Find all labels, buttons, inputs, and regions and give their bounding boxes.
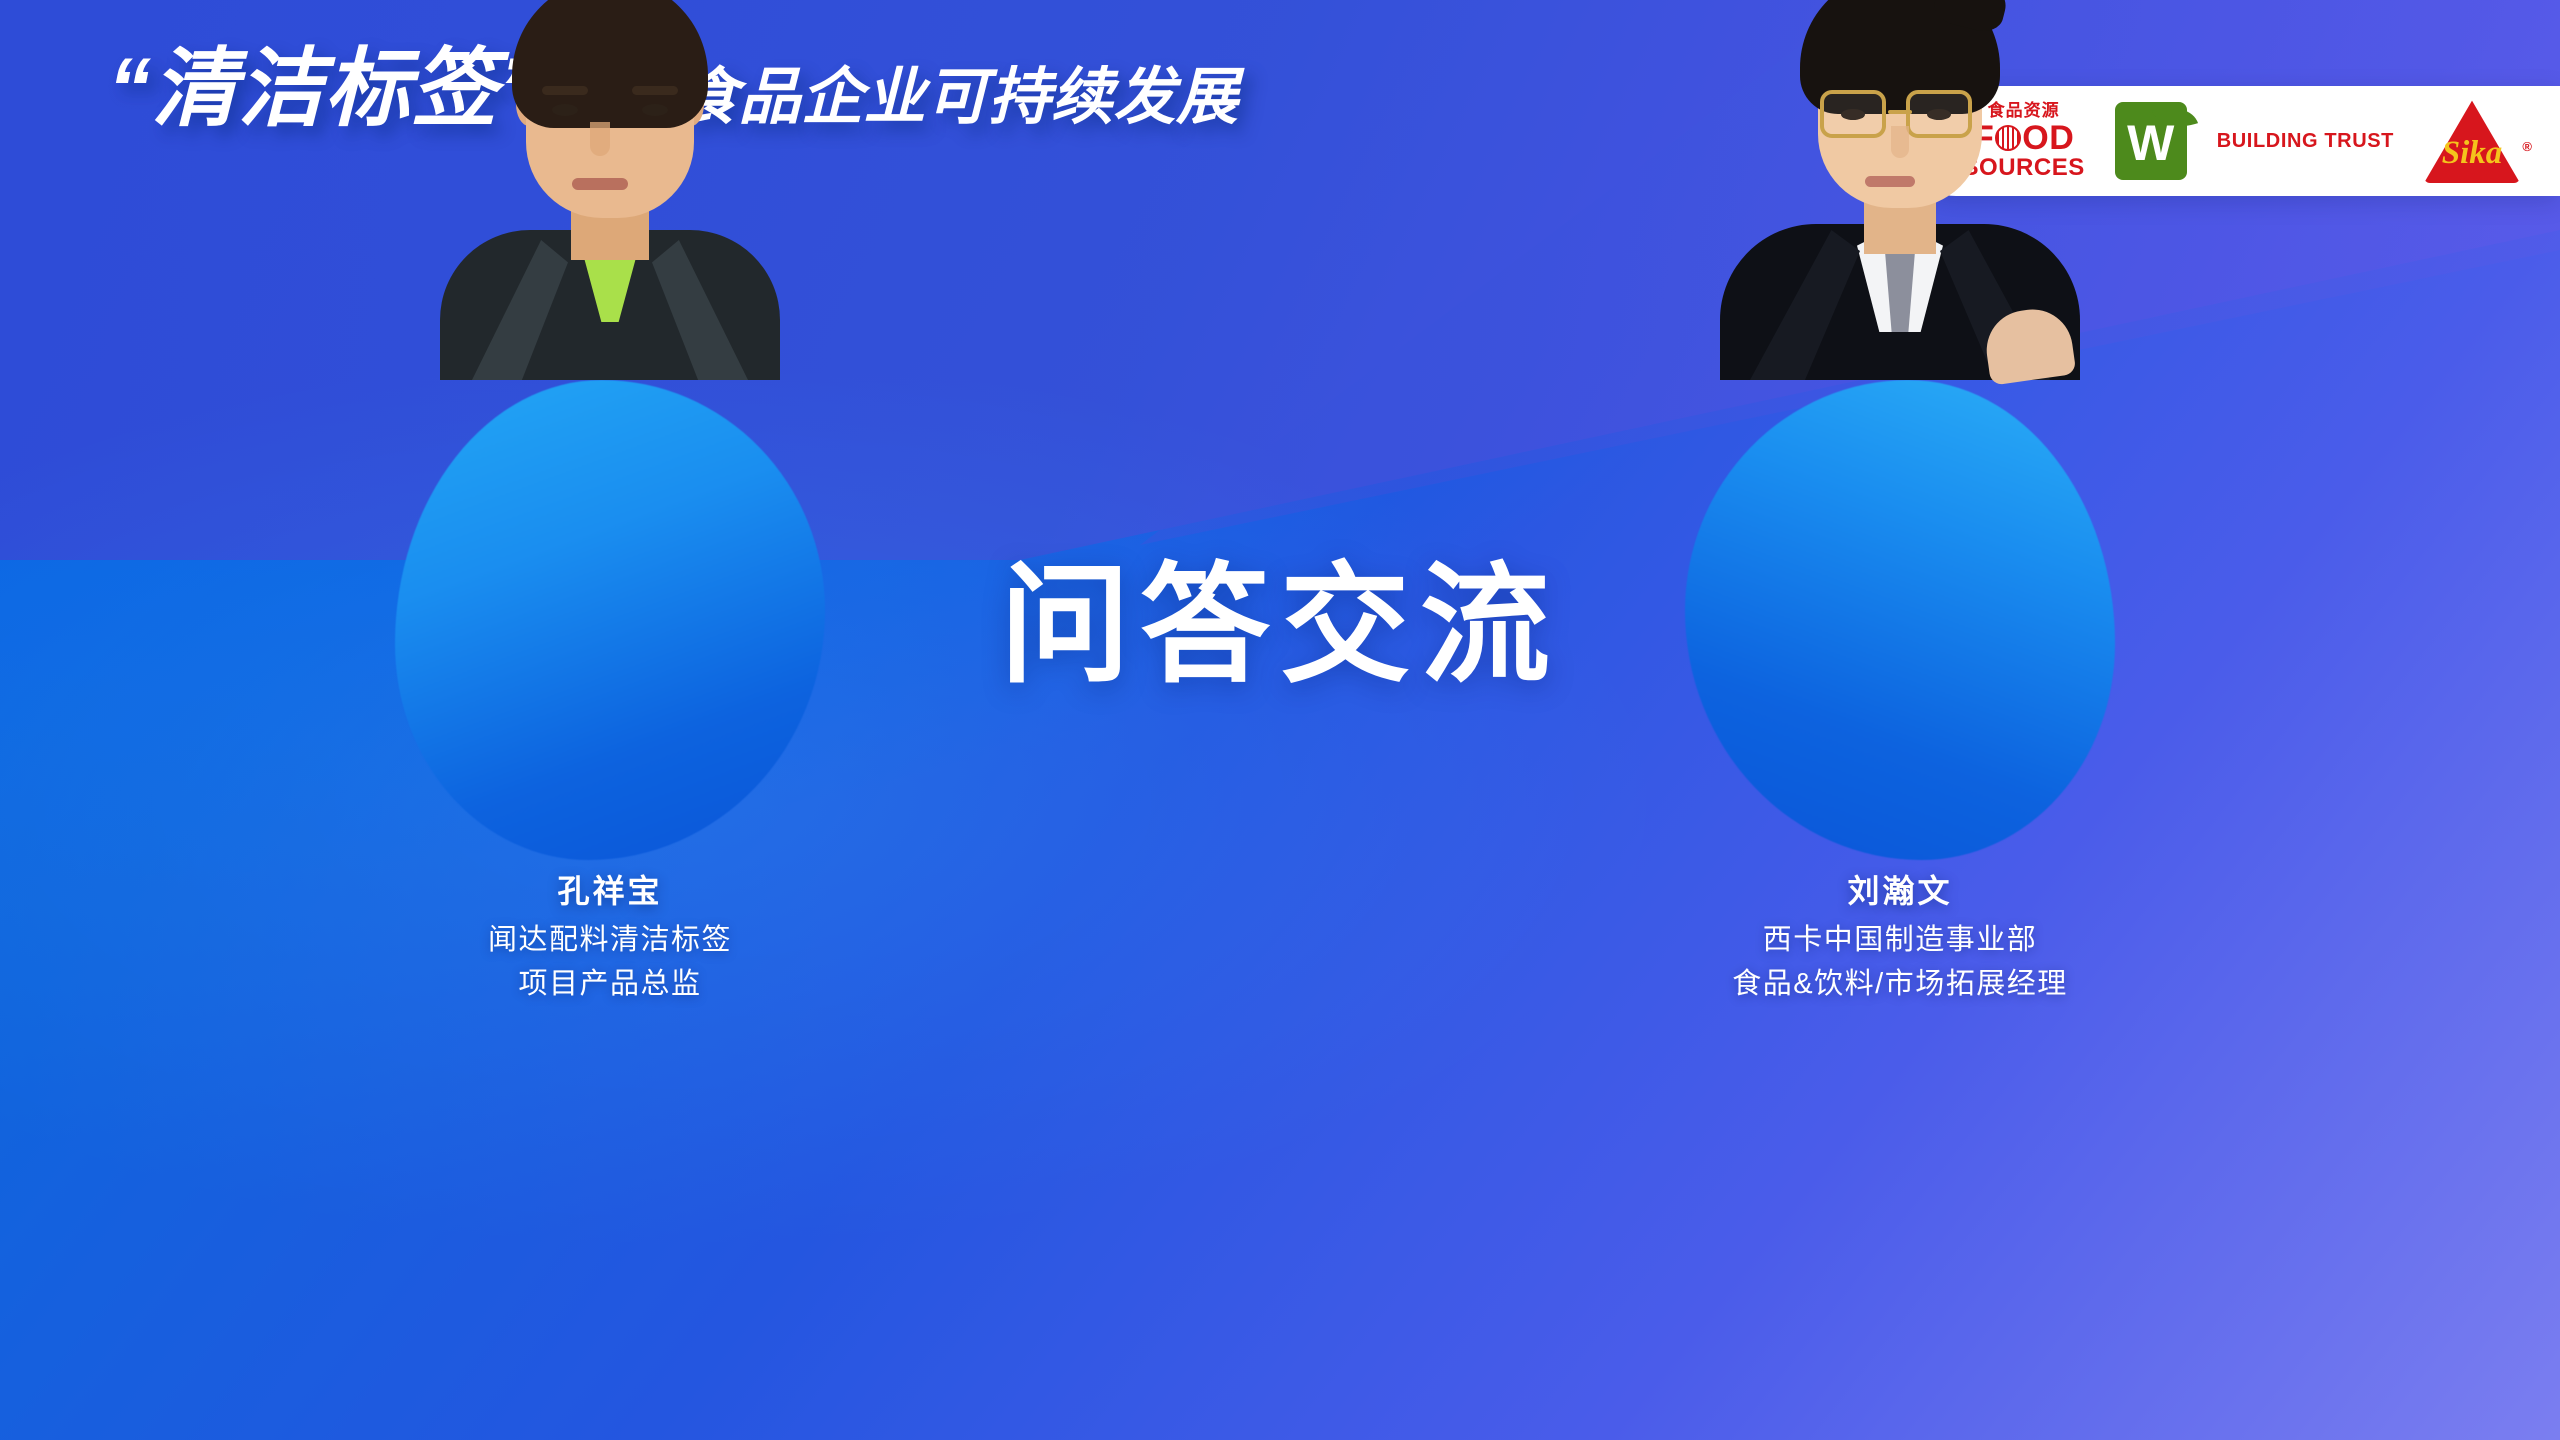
slide-header: “清洁标签”助力食品企业可持续发展 食品资源 F OD SOURCES W BU… [0, 0, 2560, 210]
speaker-role-line1: 闻达配料清洁标签 [330, 920, 890, 961]
portrait-eye-left [552, 104, 578, 116]
portrait-eye-right [642, 104, 668, 116]
portrait-nose [1891, 126, 1909, 158]
portrait-mouth [572, 178, 628, 190]
w-brand-letter: W [2127, 118, 2174, 168]
main-headline: 问答交流 [1000, 560, 1560, 690]
portrait-brow-right [632, 86, 678, 95]
speaker-role-line2: 食品&饮料/市场拓展经理 [1620, 964, 2180, 1005]
speaker-info-right: 刘瀚文 西卡中国制造事业部 食品&饮料/市场拓展经理 [1620, 872, 2180, 1005]
speaker-name: 孔祥宝 [330, 872, 890, 910]
speaker-info-left: 孔祥宝 闻达配料清洁标签 项目产品总监 [330, 872, 890, 1005]
portrait-brow-left [542, 86, 588, 95]
speaker-blob-right [1685, 380, 2115, 860]
portrait-hair [512, 0, 708, 128]
sika-logo: Sika ® [2424, 99, 2520, 183]
speaker-portrait-right [1710, 0, 2090, 380]
registered-icon: ® [2522, 139, 2532, 154]
sika-wordmark: Sika [2424, 135, 2520, 172]
speaker-blob-left [395, 380, 825, 860]
portrait-mouth [1865, 176, 1915, 187]
speaker-name: 刘瀚文 [1620, 872, 2180, 910]
speaker-role-line1: 西卡中国制造事业部 [1620, 920, 2180, 961]
glasses-icon-right [1906, 90, 1972, 138]
w-brand-logo: W [2115, 102, 2187, 180]
portrait-nose [590, 122, 610, 156]
glasses-icon-left [1820, 90, 1886, 138]
building-trust-tagline: BUILDING TRUST [2217, 130, 2394, 153]
speaker-role-line2: 项目产品总监 [330, 964, 890, 1005]
glasses-bridge [1888, 110, 1912, 114]
speaker-portrait-left [420, 0, 800, 380]
slide-canvas: “清洁标签”助力食品企业可持续发展 食品资源 F OD SOURCES W BU… [0, 0, 2560, 1440]
